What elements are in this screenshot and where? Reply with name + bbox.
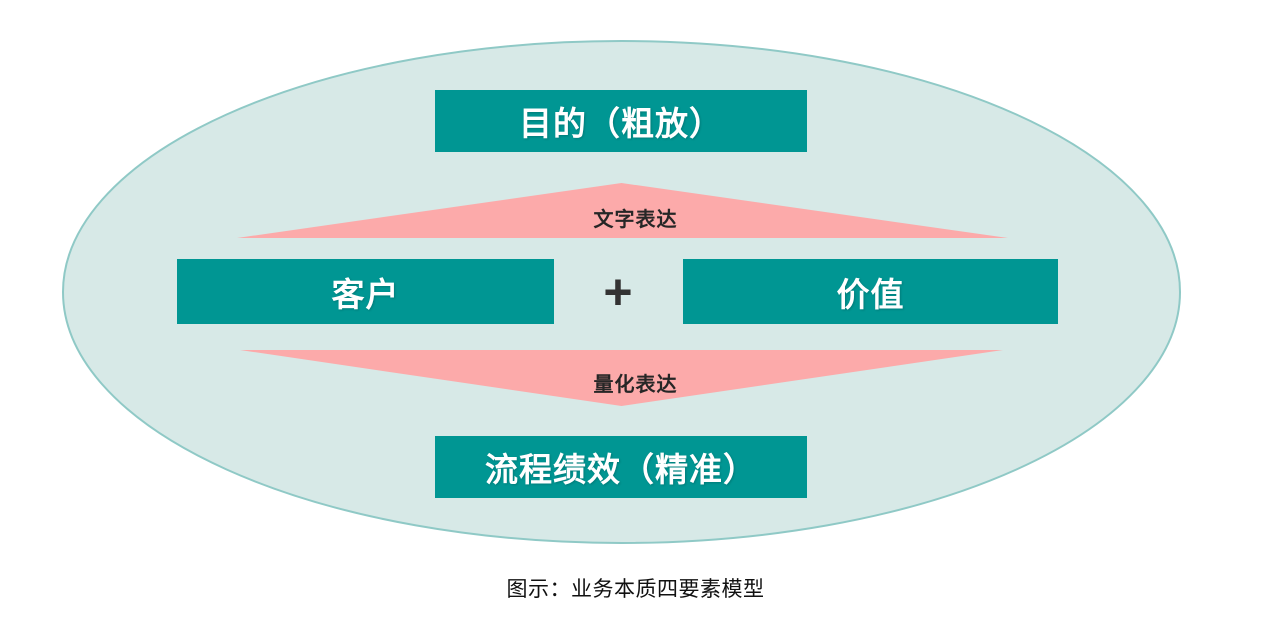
connector-label-text-expression: 文字表达 [0,203,1271,232]
node-purpose[interactable]: 目的（粗放） [435,90,807,152]
node-value[interactable]: 价值 [683,259,1058,324]
connector-label-quantitative-expression: 量化表达 [0,368,1271,397]
diagram-canvas: 目的（粗放） 客户 + 价值 流程绩效（精准） 文字表达 量化表达 图示：业务本… [0,0,1271,628]
plus-operator-icon: + [592,263,644,321]
node-customer[interactable]: 客户 [177,259,554,324]
diagram-caption: 图示：业务本质四要素模型 [0,573,1271,603]
node-process-performance[interactable]: 流程绩效（精准） [435,436,807,498]
